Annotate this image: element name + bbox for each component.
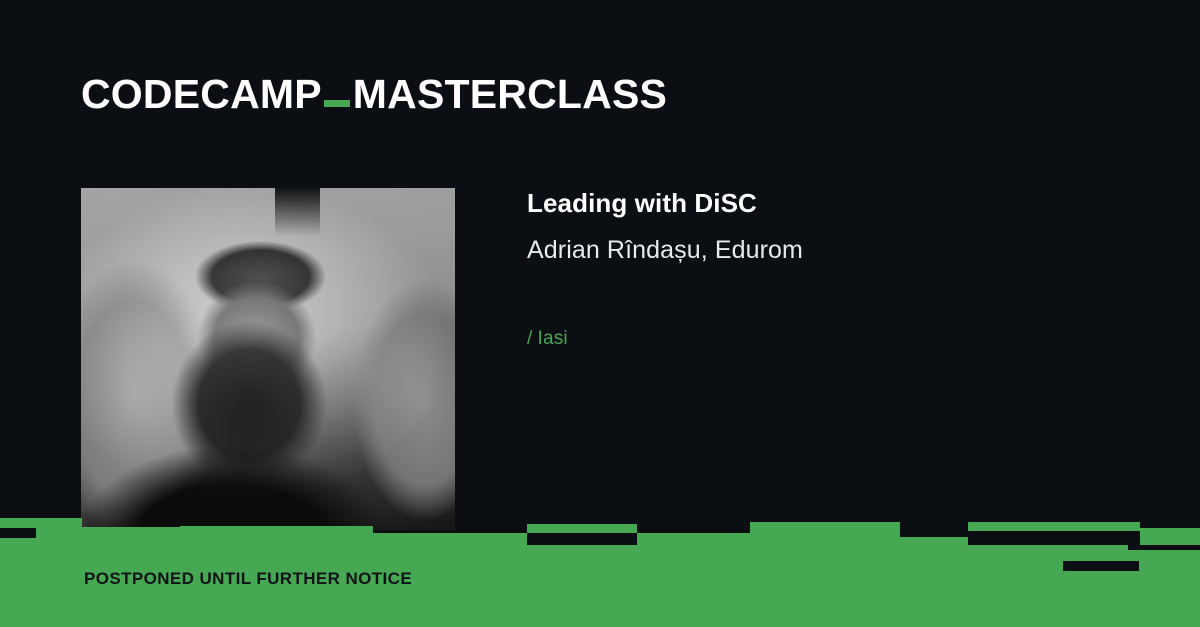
session-details: Leading with DiSC Adrian Rîndașu, Edurom… — [527, 188, 1127, 350]
glitch-cutout — [1128, 545, 1200, 550]
glitch-cutout — [527, 533, 637, 543]
status-banner: POSTPONED UNTIL FURTHER NOTICE — [0, 505, 1200, 627]
brand-logo: CODECAMP MASTERCLASS — [81, 74, 667, 115]
slash-icon: / — [527, 328, 532, 349]
speaker-photo-image — [81, 188, 455, 530]
session-location: /Iasi — [527, 328, 1127, 350]
speaker-photo — [81, 188, 455, 530]
masterclass-poster: CODECAMP MASTERCLASS Leading with DiSC A… — [0, 0, 1200, 627]
glitch-block — [900, 537, 968, 545]
glitch-cutout — [0, 528, 36, 538]
glitch-block — [637, 533, 750, 545]
brand-word-codecamp: CODECAMP — [81, 74, 322, 115]
brand-word-masterclass: MASTERCLASS — [353, 74, 667, 115]
session-location-label: Iasi — [537, 328, 567, 349]
postponed-notice: POSTPONED UNTIL FURTHER NOTICE — [84, 570, 412, 587]
underscore-accent-icon — [324, 100, 350, 107]
session-title: Leading with DiSC — [527, 188, 1127, 219]
glitch-block — [1140, 528, 1200, 545]
glitch-block — [180, 526, 373, 545]
glitch-block — [750, 522, 900, 545]
glitch-block — [968, 522, 1140, 531]
session-speaker: Adrian Rîndașu, Edurom — [527, 235, 1127, 265]
glitch-block — [82, 527, 180, 545]
photo-highlight-strip — [275, 188, 320, 236]
glitch-cutout — [968, 531, 1140, 545]
glitch-block — [36, 538, 82, 545]
glitch-cutout — [1063, 561, 1139, 571]
glitch-block — [527, 524, 637, 533]
glitch-block — [373, 533, 527, 545]
